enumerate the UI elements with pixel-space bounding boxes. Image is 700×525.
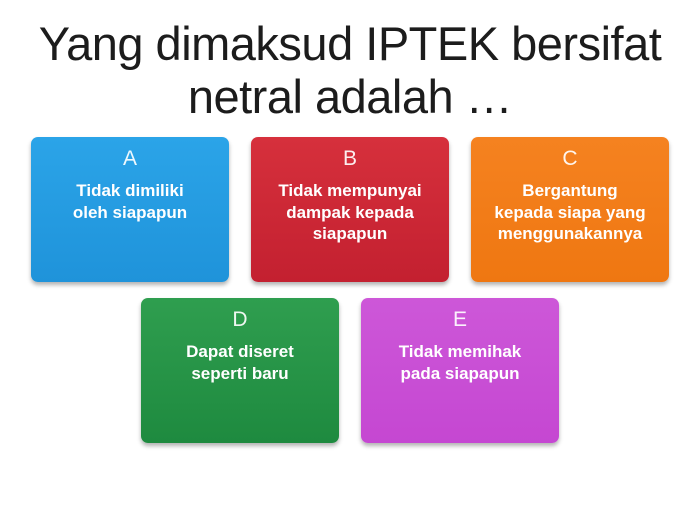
answer-options: A Tidak dimiliki oleh siapapun B Tidak m…: [20, 137, 680, 443]
answer-letter-d: D: [232, 308, 247, 331]
answer-letter-a: A: [123, 147, 137, 170]
answer-letter-c: C: [562, 147, 577, 170]
answer-row-top: A Tidak dimiliki oleh siapapun B Tidak m…: [31, 137, 669, 282]
answer-text-e: Tidak memihak pada siapapun: [371, 341, 549, 384]
answer-letter-b: B: [343, 147, 357, 170]
quiz-screen: Yang dimaksud IPTEK bersifat netral adal…: [0, 0, 700, 525]
answer-row-bottom: D Dapat diseret seperti baru E Tidak mem…: [141, 298, 559, 443]
answer-text-c: Bergantung kepada siapa yang menggunakan…: [481, 180, 659, 244]
answer-option-b[interactable]: B Tidak mempunyai dampak kepada siapapun: [251, 137, 449, 282]
answer-letter-e: E: [453, 308, 467, 331]
answer-text-a: Tidak dimiliki oleh siapapun: [41, 180, 219, 223]
answer-text-d: Dapat diseret seperti baru: [151, 341, 329, 384]
answer-option-c[interactable]: C Bergantung kepada siapa yang menggunak…: [471, 137, 669, 282]
answer-text-b: Tidak mempunyai dampak kepada siapapun: [261, 180, 439, 244]
question-text: Yang dimaksud IPTEK bersifat netral adal…: [20, 18, 680, 123]
answer-option-a[interactable]: A Tidak dimiliki oleh siapapun: [31, 137, 229, 282]
answer-option-e[interactable]: E Tidak memihak pada siapapun: [361, 298, 559, 443]
answer-option-d[interactable]: D Dapat diseret seperti baru: [141, 298, 339, 443]
